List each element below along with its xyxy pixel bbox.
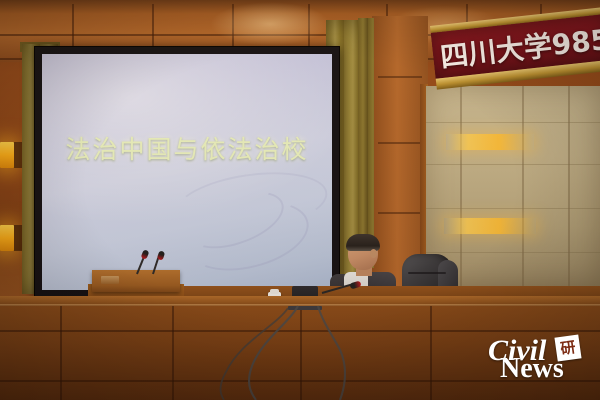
photo-canvas: 四川大学985工程法 法治中国与依法治校 xyxy=(0,0,600,400)
watermark-news-text: News xyxy=(500,355,564,383)
ceiling-light-glow xyxy=(210,2,330,46)
stone-light-strip-upper xyxy=(446,134,534,150)
chair-seam xyxy=(408,272,446,274)
wall-sconce-lower xyxy=(0,225,14,251)
stone-light-strip-lower xyxy=(444,218,536,234)
curtain-right-fold xyxy=(358,18,374,268)
speaker-ear xyxy=(370,249,377,258)
slide-surface: 法治中国与依法治校 xyxy=(42,54,332,290)
projection-screen: 法治中国与依法治校 xyxy=(34,46,340,298)
watermark-badge-char: 研 xyxy=(554,334,581,361)
wall-sconce-upper xyxy=(0,142,14,168)
watermark-badge: 研 xyxy=(554,334,581,361)
watermark-logo: Civil News 研 xyxy=(486,336,594,394)
slide-title: 法治中国与依法治校 xyxy=(42,130,332,166)
